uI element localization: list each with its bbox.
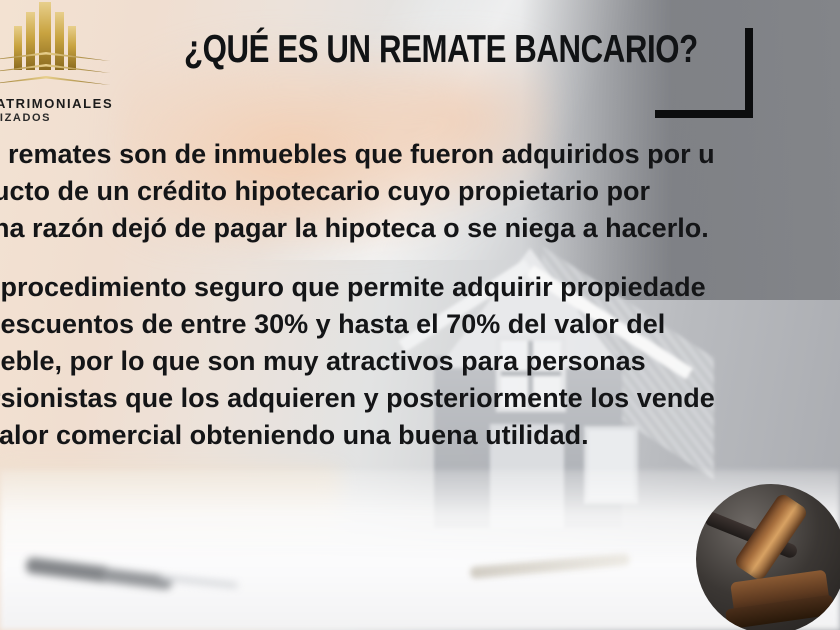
- bracket-decoration-vertical: [745, 28, 753, 118]
- page-title: ¿QUÉ ES UN REMATE BANCARIO?: [184, 30, 632, 71]
- bracket-decoration-horizontal: [655, 110, 753, 118]
- company-logo: RES PATRIMONIALES PECIALIZADOS: [0, 8, 142, 124]
- paragraph-1-line-1: tos remates son de inmuebles que fueron …: [0, 136, 840, 173]
- logo-company-subtitle: PECIALIZADOS: [0, 112, 51, 124]
- logo-company-name: RES PATRIMONIALES: [0, 96, 113, 111]
- paragraph-1-line-2: nducto de un crédito hipotecario cuyo pr…: [0, 173, 840, 210]
- paragraph-2-line-3: mueble, por lo que son muy atractivos pa…: [0, 343, 840, 380]
- paragraph-spacer: [0, 247, 840, 269]
- gavel-photo-inset: [696, 484, 840, 630]
- eyeglasses-icon: [10, 546, 240, 610]
- paragraph-2-line-1: un procedimiento seguro que permite adqu…: [0, 269, 840, 306]
- logo-towers-icon: [0, 8, 142, 84]
- body-copy: tos remates son de inmuebles que fueron …: [0, 136, 840, 454]
- paragraph-1: tos remates son de inmuebles que fueron …: [0, 136, 840, 247]
- paragraph-2-line-5: u valor comercial obteniendo una buena u…: [0, 417, 840, 454]
- paragraph-2-line-2: n descuentos de entre 30% y hasta el 70%…: [0, 306, 840, 343]
- paragraph-1-line-3: guna razón dejó de pagar la hipoteca o s…: [0, 210, 840, 247]
- infographic-slide: RES PATRIMONIALES PECIALIZADOS ¿QUÉ ES U…: [0, 0, 840, 630]
- paragraph-2-line-4: versionistas que los adquieren y posteri…: [0, 380, 840, 417]
- paragraph-2: un procedimiento seguro que permite adqu…: [0, 269, 840, 454]
